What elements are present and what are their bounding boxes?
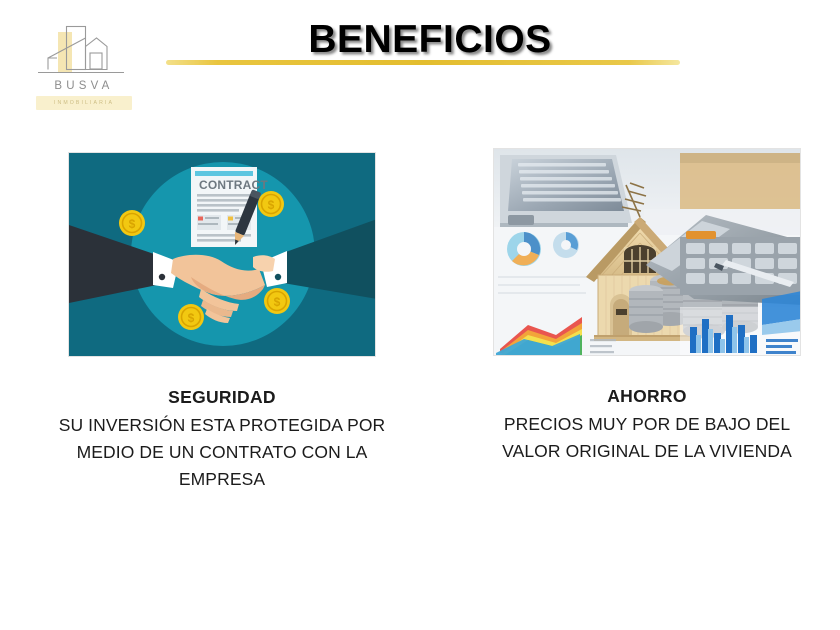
model-house-savings-graphic: [494, 149, 801, 356]
svg-text:$: $: [268, 198, 275, 212]
svg-text:$: $: [274, 295, 281, 309]
svg-text:$: $: [129, 217, 136, 231]
dollar-coin-icon-2: $: [258, 191, 284, 217]
benefit-heading: SEGURIDAD: [49, 384, 395, 411]
benefit-card-ahorro: AHORRO PRECIOS MUY POR DE BAJO DEL VALOR…: [474, 148, 820, 465]
page-title: BENEFICIOS: [170, 18, 690, 62]
dollar-coin-icon-3: $: [178, 304, 204, 330]
svg-text:CONTRACT: CONTRACT: [199, 178, 268, 192]
benefit-heading: AHORRO: [474, 383, 820, 410]
dollar-coin-icon-1: $: [119, 210, 145, 236]
slide-header: BUSVA INMOBILIARIA BENEFICIOS: [0, 0, 840, 125]
benefit-body: SU INVERSIÓN ESTA PROTEGIDA POR MEDIO DE…: [59, 415, 386, 489]
laptop-keyboard: [500, 155, 632, 231]
handshake-contract-illustration: CONTRACT: [68, 152, 376, 357]
model-house-savings-photo: [493, 148, 801, 356]
benefit-card-seguridad: CONTRACT: [49, 148, 395, 493]
building-logo-icon: [28, 22, 136, 80]
title-underline-rule: [166, 60, 680, 65]
benefit-caption: SEGURIDAD SU INVERSIÓN ESTA PROTEGIDA PO…: [49, 384, 395, 493]
logo-tagline: INMOBILIARIA: [36, 97, 132, 109]
benefit-caption: AHORRO PRECIOS MUY POR DE BAJO DEL VALOR…: [474, 383, 820, 465]
benefit-body: PRECIOS MUY POR DE BAJO DEL VALOR ORIGIN…: [502, 414, 792, 461]
svg-text:$: $: [188, 311, 195, 325]
logo-wordmark: BUSVA: [28, 80, 136, 92]
contract-document-icon: CONTRACT: [191, 167, 268, 247]
dollar-coin-icon-4: $: [264, 288, 290, 314]
busva-logo: BUSVA INMOBILIARIA: [28, 22, 136, 110]
handshake-contract-graphic: CONTRACT: [69, 153, 376, 357]
